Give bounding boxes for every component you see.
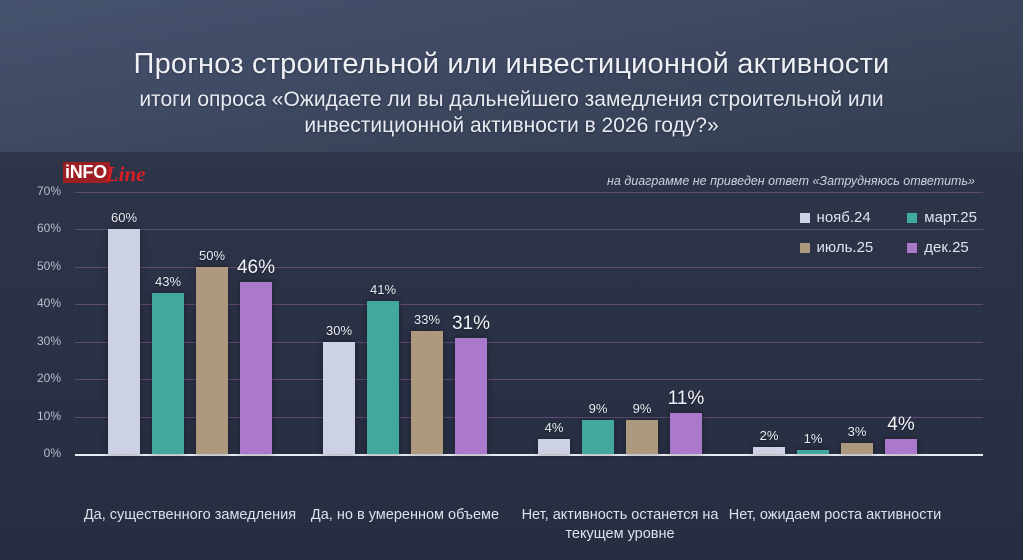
y-axis-tick-label: 0% <box>15 446 61 460</box>
bar-group-1: 60%43%50%46% <box>108 192 272 454</box>
bar-нояб-24-1[interactable] <box>108 229 140 454</box>
y-axis-tick-label: 70% <box>15 184 61 198</box>
bar-дек-25-3[interactable] <box>670 413 702 454</box>
chart-note: на диаграмме не приведен ответ «Затрудня… <box>607 174 975 188</box>
bar-value-label: 4% <box>887 414 914 436</box>
bar-value-label: 46% <box>237 257 275 279</box>
bar-март-25-4[interactable] <box>797 450 829 454</box>
bar-value-label: 9% <box>633 401 652 416</box>
bar-value-label: 30% <box>326 323 352 338</box>
bar-июль-25-3[interactable] <box>626 420 658 454</box>
bar-июль-25-2[interactable] <box>411 331 443 455</box>
bar-дек-25-4[interactable] <box>885 439 917 454</box>
chart-panel: iNFOLine на диаграмме не приведен ответ … <box>0 152 1023 560</box>
bar-нояб-24-4[interactable] <box>753 447 785 454</box>
y-axis-tick-label: 50% <box>15 259 61 273</box>
y-axis-tick-label: 40% <box>15 296 61 310</box>
y-axis-tick-label: 20% <box>15 371 61 385</box>
plot-area: 0%10%20%30%40%50%60%70%60%43%50%46%Да, с… <box>75 192 983 454</box>
logo-info-text: iNFO <box>63 162 110 183</box>
bar-group-2: 30%41%33%31% <box>323 192 487 454</box>
x-axis-line <box>75 454 983 456</box>
logo-line-text: Line <box>106 165 146 184</box>
bar-value-label: 3% <box>848 424 867 439</box>
bar-июль-25-4[interactable] <box>841 443 873 454</box>
page-subtitle: итоги опроса «Ожидаете ли вы дальнейшего… <box>110 87 913 139</box>
bar-value-label: 41% <box>370 282 396 297</box>
bar-нояб-24-3[interactable] <box>538 439 570 454</box>
bar-март-25-2[interactable] <box>367 301 399 454</box>
header-banner: Прогноз строительной или инвестиционной … <box>0 0 1023 152</box>
bar-value-label: 60% <box>111 210 137 225</box>
bar-group-4: 2%1%3%4% <box>753 192 917 454</box>
bar-value-label: 4% <box>545 420 564 435</box>
y-axis-tick-label: 60% <box>15 221 61 235</box>
x-axis-category-label: Нет, ожидаем роста активности <box>708 506 962 525</box>
bar-value-label: 2% <box>760 428 779 443</box>
bar-дек-25-2[interactable] <box>455 338 487 454</box>
bar-value-label: 9% <box>589 401 608 416</box>
page-title: Прогноз строительной или инвестиционной … <box>0 48 1023 81</box>
bar-group-3: 4%9%9%11% <box>538 192 702 454</box>
y-axis-tick-label: 10% <box>15 409 61 423</box>
bar-value-label: 43% <box>155 274 181 289</box>
bar-value-label: 50% <box>199 248 225 263</box>
bar-март-25-1[interactable] <box>152 293 184 454</box>
bar-нояб-24-2[interactable] <box>323 342 355 454</box>
bar-value-label: 31% <box>452 313 490 335</box>
bar-value-label: 1% <box>804 431 823 446</box>
bar-март-25-3[interactable] <box>582 420 614 454</box>
y-axis-tick-label: 30% <box>15 334 61 348</box>
infoline-logo: iNFOLine <box>63 160 145 184</box>
bar-июль-25-1[interactable] <box>196 267 228 454</box>
chart-page: Прогноз строительной или инвестиционной … <box>0 0 1023 560</box>
bar-value-label: 11% <box>668 388 705 410</box>
bar-value-label: 33% <box>414 312 440 327</box>
bar-дек-25-1[interactable] <box>240 282 272 454</box>
